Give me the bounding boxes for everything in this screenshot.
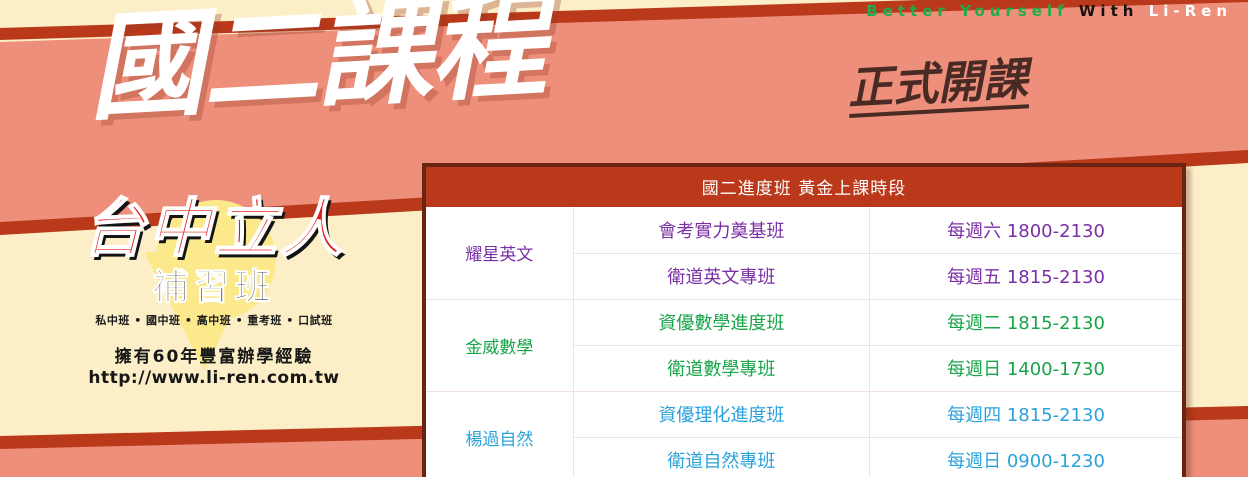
status-badge: 正式開課 — [847, 56, 1030, 118]
schedule-table: 國二進度班 黃金上課時段 耀星英文 會考實力奠基班 每週六 1800-2130 … — [426, 167, 1182, 477]
schedule-table-container: 國二進度班 黃金上課時段 耀星英文 會考實力奠基班 每週六 1800-2130 … — [422, 163, 1186, 477]
time-cell: 每週四 1815-2130 — [870, 391, 1182, 437]
table-row[interactable]: 耀星英文 會考實力奠基班 每週六 1800-2130 — [426, 207, 1182, 253]
time-cell: 每週日 0900-1230 — [870, 437, 1182, 477]
logo-class-tags: 私中班 • 國中班 • 高中班 • 重考班 • 口試班 — [34, 312, 394, 328]
brand-logo: 台中立人 補習班 私中班 • 國中班 • 高中班 • 重考班 • 口試班 擁有6… — [34, 196, 394, 388]
tagline: Better Yourself With Li-Ren — [866, 2, 1232, 20]
time-cell: 每週六 1800-2130 — [870, 207, 1182, 253]
time-cell: 每週二 1815-2130 — [870, 299, 1182, 345]
course-cell: 資優數學進度班 — [573, 299, 869, 345]
logo-brand-name: 台中立人 — [34, 196, 394, 262]
subject-cell: 金威數學 — [426, 299, 573, 391]
logo-brand-sub: 補習班 — [34, 258, 394, 310]
logo-experience: 擁有60年豐富辦學經驗 — [34, 342, 394, 367]
time-cell: 每週五 1815-2130 — [870, 253, 1182, 299]
subject-cell: 耀星英文 — [426, 207, 573, 299]
table-header-row: 國二進度班 黃金上課時段 — [426, 167, 1182, 207]
tagline-part-3: Li-Ren — [1149, 2, 1232, 20]
course-cell: 會考實力奠基班 — [573, 207, 869, 253]
table-row[interactable]: 楊過自然 資優理化進度班 每週四 1815-2130 — [426, 391, 1182, 437]
course-cell: 衛道數學專班 — [573, 345, 869, 391]
logo-website-url[interactable]: http://www.li-ren.com.tw — [34, 368, 394, 388]
schedule-table-body: 耀星英文 會考實力奠基班 每週六 1800-2130 衛道英文專班 每週五 18… — [426, 207, 1182, 477]
course-cell: 資優理化進度班 — [573, 391, 869, 437]
course-cell: 衛道英文專班 — [573, 253, 869, 299]
schedule-table-title: 國二進度班 黃金上課時段 — [426, 167, 1182, 207]
poster-canvas: Better Yourself With Li-Ren 國二課程 正式開課 台中… — [0, 0, 1248, 477]
page-title: 國二課程 — [85, 0, 547, 128]
tagline-part-1: Better Yourself — [866, 2, 1068, 20]
time-cell: 每週日 1400-1730 — [870, 345, 1182, 391]
subject-cell: 楊過自然 — [426, 391, 573, 477]
table-row[interactable]: 金威數學 資優數學進度班 每週二 1815-2130 — [426, 299, 1182, 345]
tagline-part-2: With — [1079, 2, 1139, 20]
course-cell: 衛道自然專班 — [573, 437, 869, 477]
